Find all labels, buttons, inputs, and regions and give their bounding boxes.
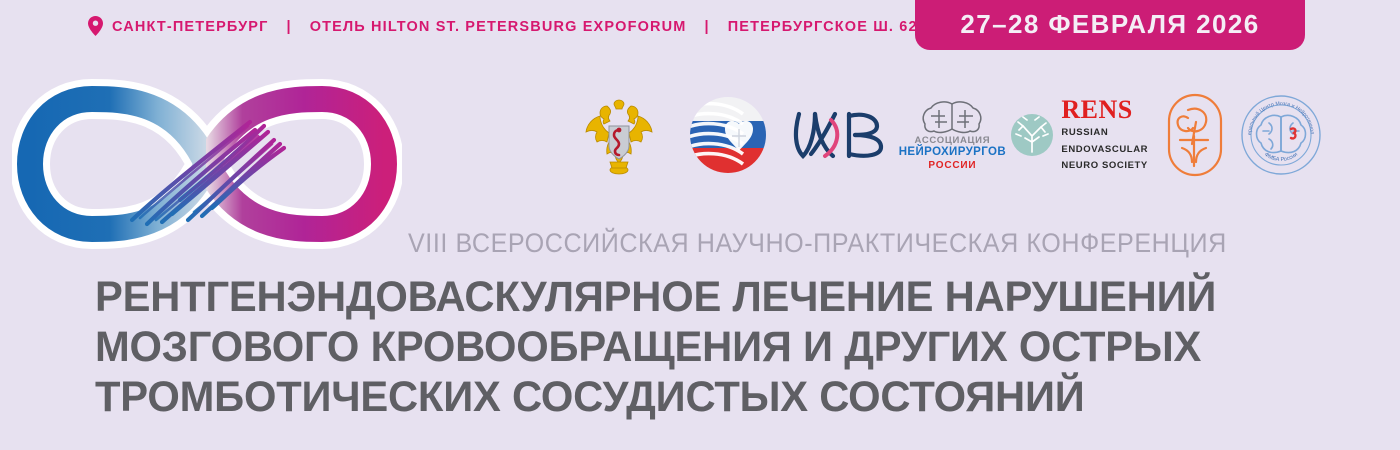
conference-kicker: VIII ВСЕРОССИЙСКАЯ НАУЧНО-ПРАКТИЧЕСКАЯ К…: [408, 228, 1227, 259]
top-bar: САНКТ-ПЕТЕРБУРГ | ОТЕЛЬ HILTON ST. PETER…: [0, 0, 1400, 52]
conference-banner: САНКТ-ПЕТЕРБУРГ | ОТЕЛЬ HILTON ST. PETER…: [0, 0, 1400, 450]
neuro-line-2: НЕЙРОХИРУРГОВ: [899, 147, 1006, 159]
fmba-brain-circle-icon: Федеральный Центр Мозга и Нейротехнологи…: [1239, 93, 1323, 177]
venue-info: САНКТ-ПЕТЕРБУРГ | ОТЕЛЬ HILTON ST. PETER…: [88, 17, 932, 36]
flag-heart-icon: [687, 94, 769, 176]
ihv-monogram-logo: [782, 84, 900, 186]
brain-outline-icon: [919, 100, 985, 134]
ministry-of-health-eagle-emblem: [565, 84, 673, 186]
date-badge: 27–28 ФЕВРАЛЯ 2026: [915, 0, 1305, 50]
double-headed-eagle-icon: [583, 92, 655, 178]
title-line-3: ТРОМБОТИЧЕСКИХ СОСУДИСТЫХ СОСТОЯНИЙ: [95, 372, 1317, 422]
neuro-line-3: РОССИИ: [928, 161, 976, 171]
map-pin-icon: [88, 16, 103, 36]
date-badge-label: 27–28 ФЕВРАЛЯ 2026: [960, 9, 1259, 40]
title-line-2: МОЗГОВОГО КРОВООБРАЩЕНИЯ И ДРУГИХ ОСТРЫХ: [95, 322, 1317, 372]
rens-sub-1: RUSSIAN: [1061, 126, 1148, 140]
neuro-line-1: АССОЦИАЦИЯ: [915, 136, 991, 146]
venue-address: ПЕТЕРБУРГСКОЕ Ш. 62/1: [728, 19, 932, 35]
infinity-logo: [12, 52, 402, 277]
venue-separator-1: |: [277, 19, 300, 35]
neurosurgeons-association-logo: АССОЦИАЦИЯ НЕЙРОХИРУРГОВ РОССИИ: [900, 84, 1005, 186]
venue-separator-2: |: [696, 19, 719, 35]
russian-flag-heart-emblem: [673, 84, 781, 186]
rens-logo: RENS RUSSIAN ENDOVASCULAR NEURO SOCIETY: [1005, 84, 1153, 186]
ihv-monogram-icon: [789, 104, 893, 166]
brain-center-fmba-logo: Федеральный Центр Мозга и Нейротехнологи…: [1236, 84, 1325, 186]
venue-hotel: ОТЕЛЬ HILTON ST. PETERSBURG EXPOFORUM: [310, 19, 687, 35]
vessel-outline-logo: [1153, 84, 1237, 186]
svg-text:ФМБА России: ФМБА России: [1263, 152, 1299, 163]
infinity-logo-graphic: [12, 52, 402, 277]
rens-sub-2: ENDOVASCULAR: [1061, 143, 1148, 157]
rens-sub-3: NEURO SOCIETY: [1061, 159, 1148, 173]
title-line-1: РЕНТГЕНЭНДОВАСКУЛЯРНОЕ ЛЕЧЕНИЕ НАРУШЕНИЙ: [95, 272, 1317, 322]
rens-brain-circle-icon: [1009, 112, 1055, 158]
fmba-ring-sub: ФМБА России: [1263, 152, 1299, 163]
venue-city: САНКТ-ПЕТЕРБУРГ: [112, 19, 268, 35]
vessel-outline-icon: [1166, 92, 1224, 178]
rens-title: RENS: [1061, 97, 1148, 123]
partner-logos: АССОЦИАЦИЯ НЕЙРОХИРУРГОВ РОССИИ RENS RUS…: [565, 84, 1325, 186]
page-title: РЕНТГЕНЭНДОВАСКУЛЯРНОЕ ЛЕЧЕНИЕ НАРУШЕНИЙ…: [95, 272, 1355, 422]
